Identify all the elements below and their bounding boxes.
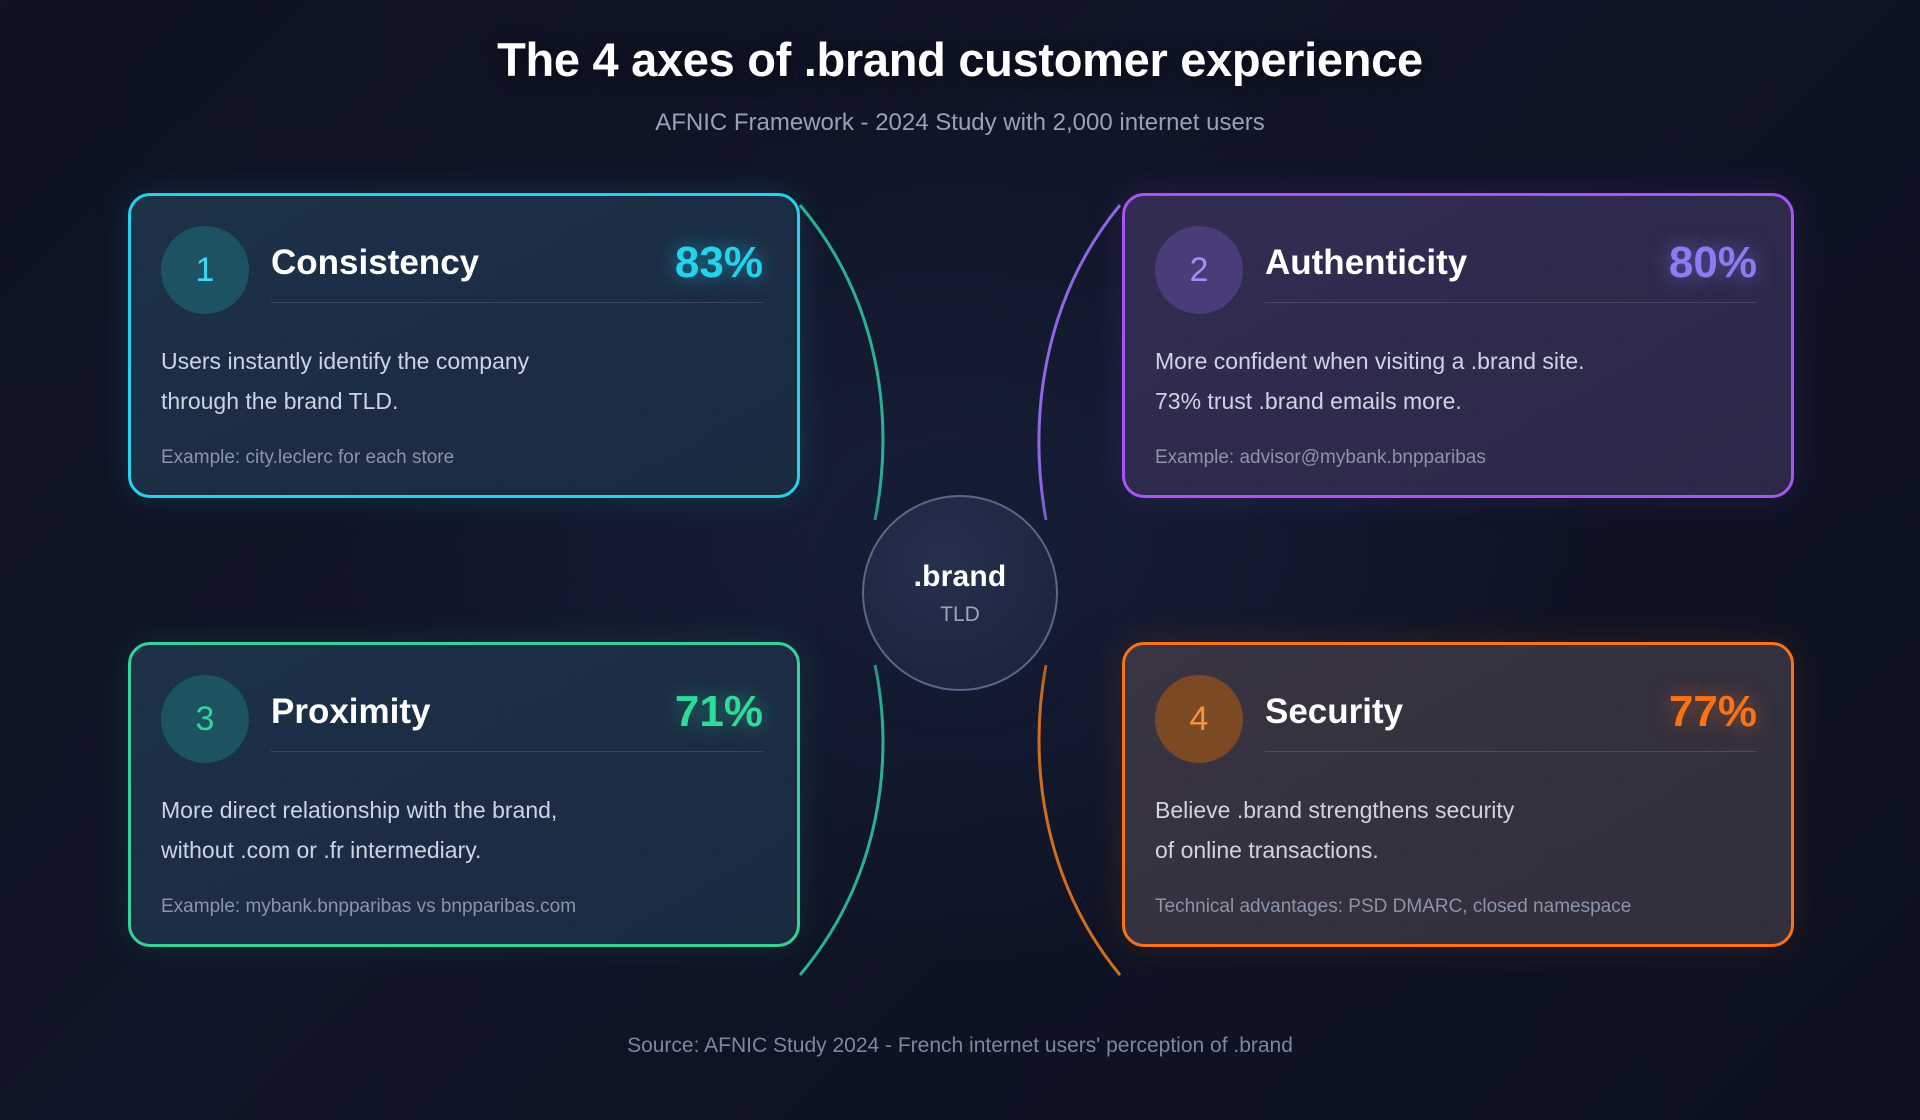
card-number-badge: 2 [1155,226,1243,314]
card-title-row: Proximity 71% [271,687,763,751]
hub-label: .brand [914,560,1007,594]
card-header: 1 Consistency 83% [161,226,763,314]
card-percentage: 83% [675,238,763,288]
card-description: More confident when visiting a .brand si… [1155,341,1757,421]
connector-arc-proximity [800,665,883,975]
card-header: 2 Authenticity 80% [1155,226,1757,314]
card-title-row: Authenticity 80% [1265,238,1757,302]
card-description-line-1: Users instantly identify the company [161,341,763,381]
card-header: 4 Security 77% [1155,675,1757,763]
card-description-line-1: More confident when visiting a .brand si… [1155,341,1757,381]
card-header: 3 Proximity 71% [161,675,763,763]
card-header-content: Authenticity 80% [1265,238,1757,303]
hub-sublabel: TLD [940,603,980,627]
card-description-line-1: Believe .brand strengthens security [1155,790,1757,830]
card-description: More direct relationship with the brand,… [161,790,763,870]
card-example: Example: advisor@mybank.bnpparibas [1155,447,1757,469]
source-note: Source: AFNIC Study 2024 - French intern… [0,1034,1920,1058]
card-description-line-2: of online transactions. [1155,830,1757,870]
axis-card-security[interactable]: 4 Security 77% Believe .brand strengthen… [1122,642,1794,947]
infographic-canvas: The 4 axes of .brand customer experience… [0,0,1920,1120]
card-divider [1265,302,1757,303]
card-title: Consistency [271,243,479,283]
connector-arc-authenticity [1039,205,1120,520]
card-description: Believe .brand strengthens security of o… [1155,790,1757,870]
card-header-content: Proximity 71% [271,687,763,752]
card-percentage: 71% [675,687,763,737]
card-divider [271,751,763,752]
card-description-line-2: through the brand TLD. [161,381,763,421]
axis-card-proximity[interactable]: 3 Proximity 71% More direct relationship… [128,642,800,947]
card-number-badge: 4 [1155,675,1243,763]
card-percentage: 77% [1669,687,1757,737]
axis-card-consistency[interactable]: 1 Consistency 83% Users instantly identi… [128,193,800,498]
central-hub: .brand TLD [862,495,1058,691]
card-title: Security [1265,692,1403,732]
connector-arc-security [1039,665,1120,975]
card-header-content: Security 77% [1265,687,1757,752]
card-example: Example: city.leclerc for each store [161,447,763,469]
card-description-line-1: More direct relationship with the brand, [161,790,763,830]
card-description-line-2: without .com or .fr intermediary. [161,830,763,870]
connector-arc-consistency [800,205,883,520]
card-divider [271,302,763,303]
card-number-badge: 3 [161,675,249,763]
card-example: Example: mybank.bnpparibas vs bnpparibas… [161,896,763,918]
card-number-badge: 1 [161,226,249,314]
card-divider [1265,751,1757,752]
card-description: Users instantly identify the company thr… [161,341,763,421]
card-example: Technical advantages: PSD DMARC, closed … [1155,896,1757,918]
card-title: Proximity [271,692,431,732]
card-percentage: 80% [1669,238,1757,288]
card-header-content: Consistency 83% [271,238,763,303]
card-title-row: Consistency 83% [271,238,763,302]
card-description-line-2: 73% trust .brand emails more. [1155,381,1757,421]
card-title: Authenticity [1265,243,1467,283]
axis-card-authenticity[interactable]: 2 Authenticity 80% More confident when v… [1122,193,1794,498]
card-title-row: Security 77% [1265,687,1757,751]
